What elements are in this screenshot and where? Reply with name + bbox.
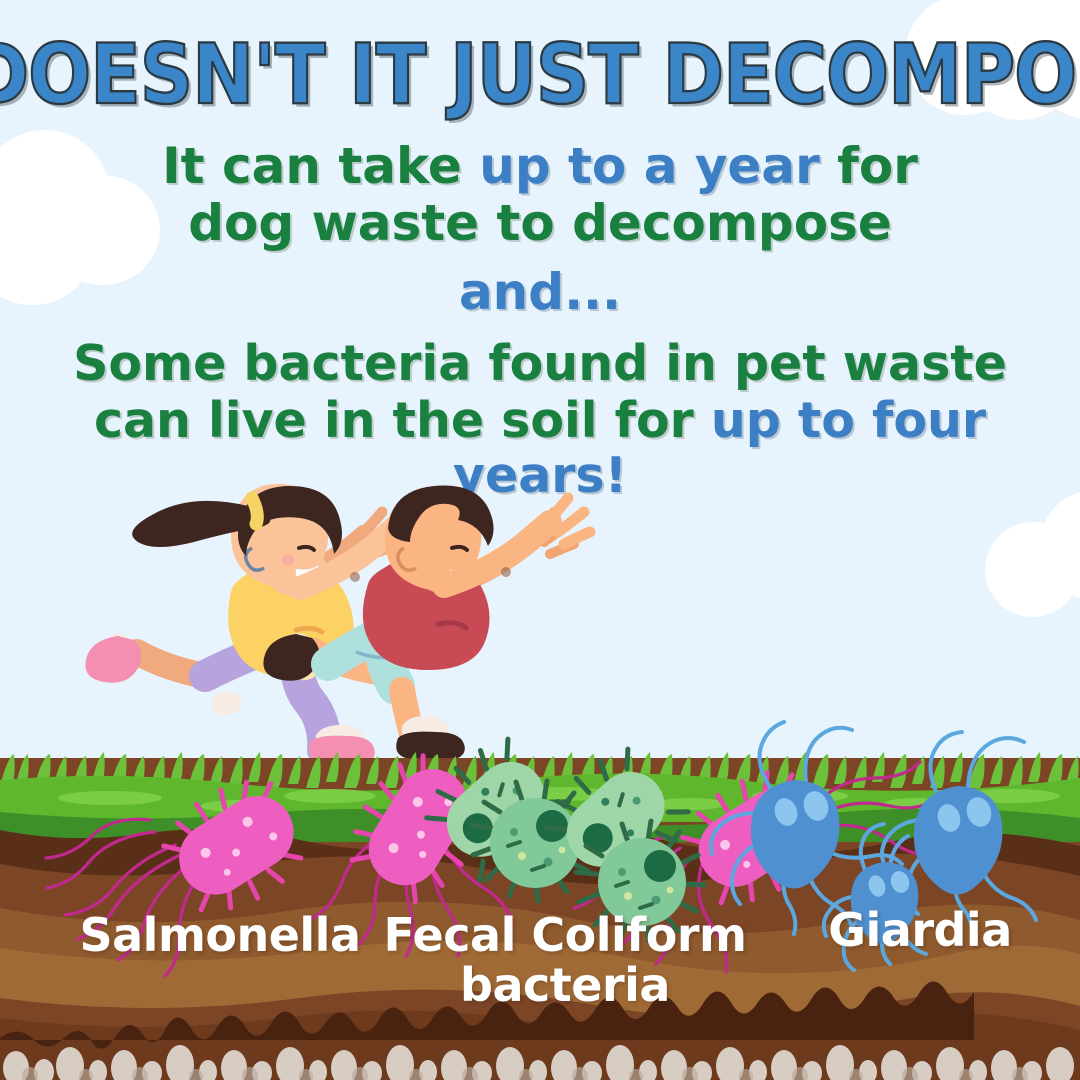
coliform-cell-4-nucleus xyxy=(644,850,676,882)
label-salmonella: Salmonella xyxy=(30,910,410,960)
giardia-cell-2 xyxy=(914,786,1003,895)
infographic-poster: DOESN'T IT JUST DECOMPOSE? It can take u… xyxy=(0,0,1080,1080)
label-giardia: Giardia xyxy=(770,905,1070,955)
coliform-cell-2-body xyxy=(490,798,580,888)
giardia-cell-2-body xyxy=(914,786,1003,895)
label-fecal-coliform: Fecal Coliform bacteria xyxy=(355,910,775,1010)
label-fecal-coliform-line2: bacteria xyxy=(460,958,670,1012)
salmonella-cell-1 xyxy=(152,765,318,927)
label-fecal-coliform-line1: Fecal Coliform xyxy=(384,908,747,962)
salmonella-cell-1-body xyxy=(166,782,308,908)
